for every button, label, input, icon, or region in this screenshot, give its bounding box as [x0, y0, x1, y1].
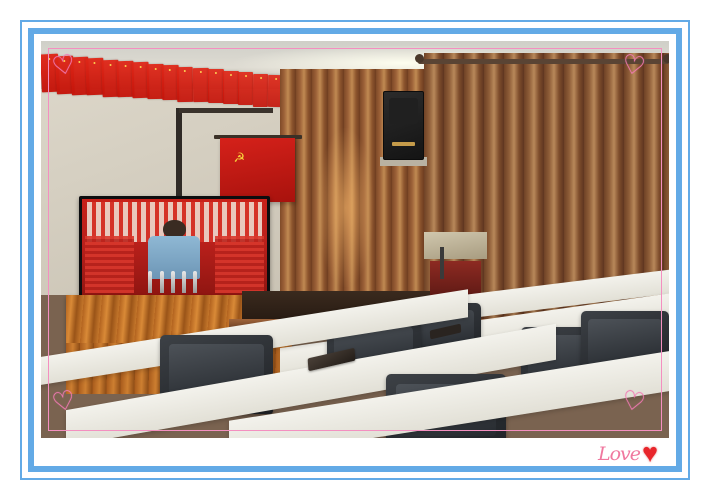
curtain-rod-finial-left	[415, 54, 424, 63]
tv-backdrop-panel-right	[215, 236, 263, 293]
party-flag: ☭	[220, 138, 295, 202]
speaker-badge	[392, 142, 415, 147]
scene: ☭	[41, 41, 669, 438]
heart-icon-signature: ♥	[642, 440, 658, 467]
projector-screen-header	[179, 108, 273, 112]
tv-screen	[82, 199, 268, 298]
curtain-rod-finial-right	[663, 54, 669, 63]
tv-microphone-4	[182, 271, 186, 293]
bunting-flag	[223, 71, 239, 104]
bunting-flag	[238, 72, 253, 105]
tv-microphone-1	[148, 271, 152, 293]
bunting-flag	[208, 69, 224, 103]
love-signature: Love ♥	[598, 440, 658, 467]
meeting-room-photograph: ☭	[41, 41, 669, 438]
photo-card: ☭	[0, 0, 710, 500]
tv-backdrop-panel-left	[85, 236, 133, 293]
podium-top	[424, 232, 487, 260]
bunting-flag	[177, 67, 194, 102]
curtain-sunlight-glow	[317, 128, 374, 287]
microphone-stand	[440, 247, 444, 279]
bunting-flag	[253, 74, 268, 107]
television	[79, 196, 271, 303]
hammer-sickle-icon: ☭	[234, 151, 264, 180]
bunting-flag	[192, 68, 208, 102]
tv-microphone-5	[193, 271, 197, 293]
curtain-rod	[418, 59, 669, 64]
love-signature-text: Love	[598, 443, 640, 465]
tv-microphone-2	[160, 271, 164, 293]
tv-microphone-3	[171, 271, 175, 293]
speaker-grille	[389, 98, 419, 124]
wall-speaker-icon	[383, 91, 424, 160]
